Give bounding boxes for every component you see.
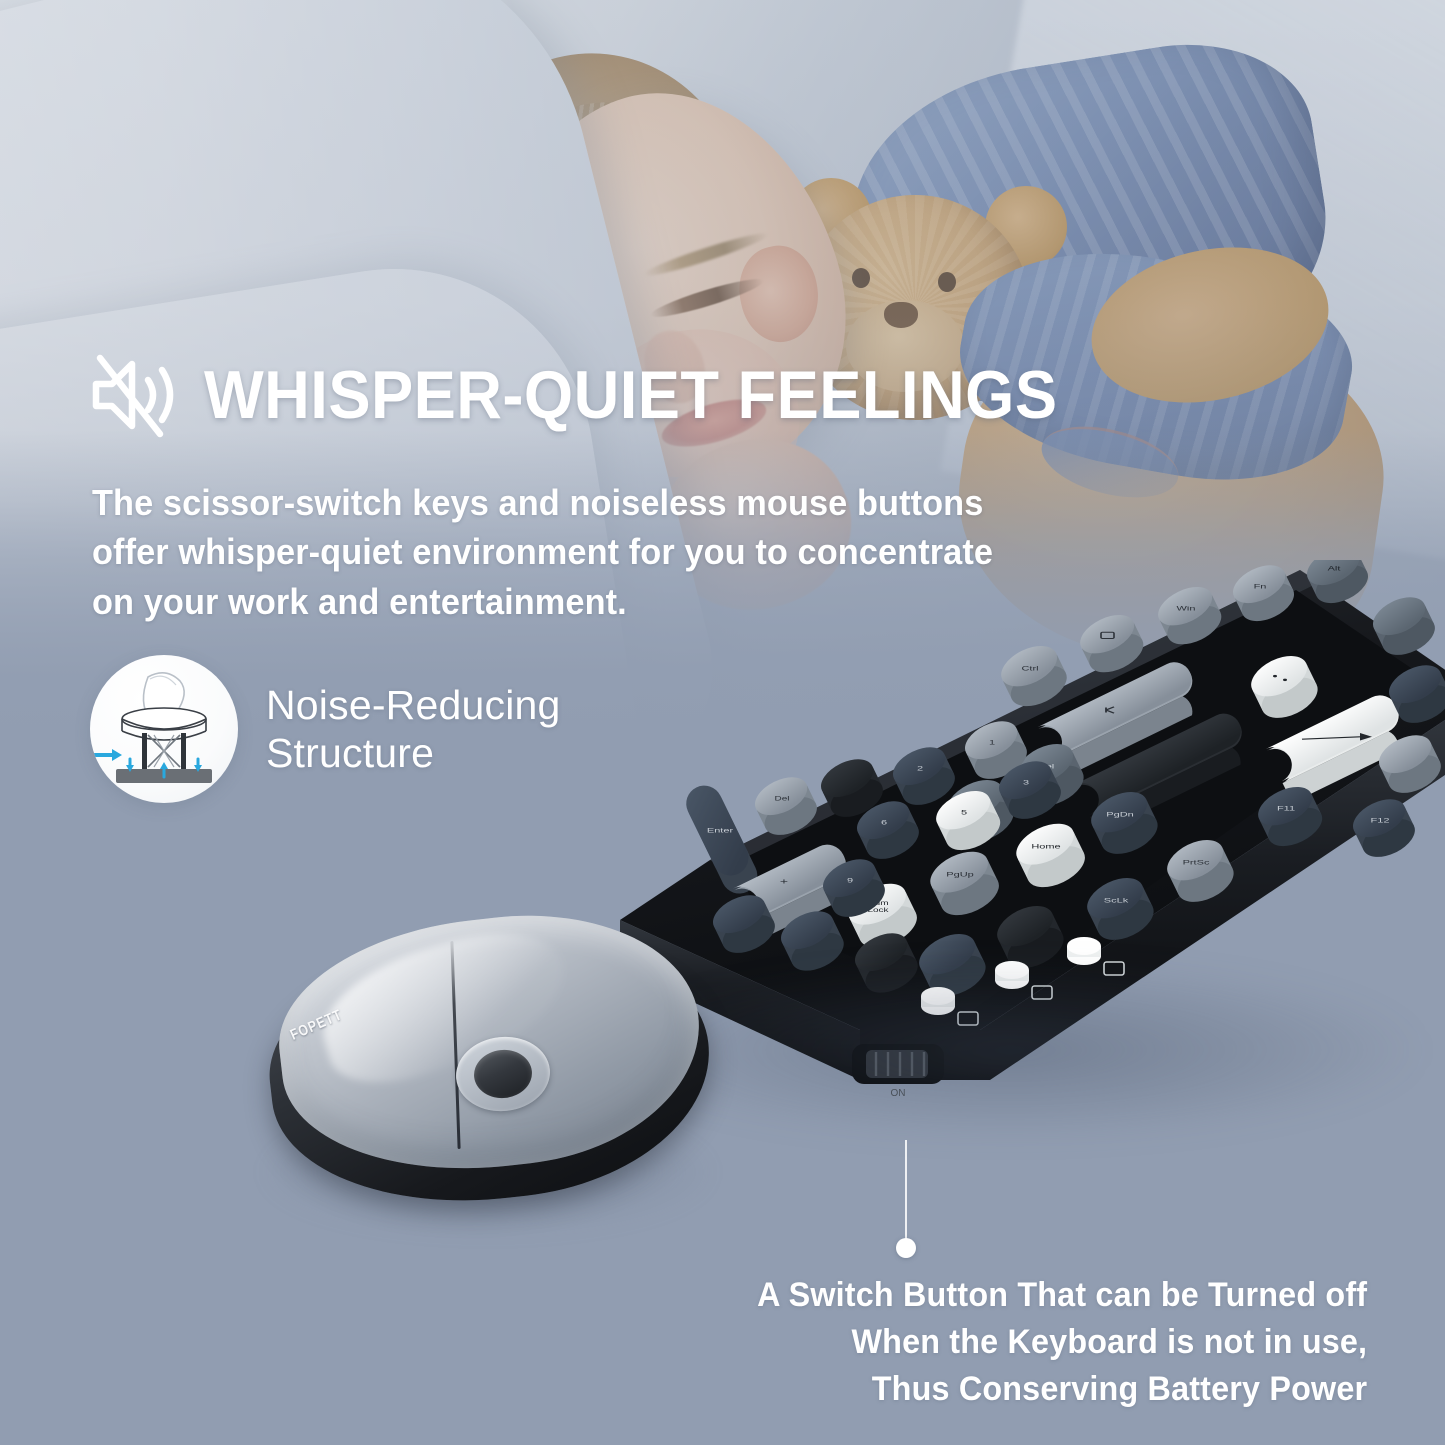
svg-text:2: 2 (917, 765, 923, 772)
callout-line-3: Thus Conserving Battery Power (757, 1366, 1367, 1413)
feature-badge-label: Noise-Reducing Structure (266, 681, 561, 778)
svg-text:9: 9 (847, 877, 853, 884)
muted-speaker-icon (86, 352, 182, 438)
product-mouse: FOPETT (258, 905, 728, 1235)
page-title: WHISPER-QUIET FEELINGS (204, 361, 1057, 429)
noise-reducing-structure-badge (90, 655, 238, 803)
callout-line-1: A Switch Button That can be Turned off (757, 1272, 1367, 1319)
svg-text:Home: Home (1031, 843, 1060, 850)
svg-text:PgDn: PgDn (1106, 811, 1133, 818)
svg-text:ScLk: ScLk (1104, 897, 1129, 904)
svg-text:Alt: Alt (1328, 565, 1341, 572)
product-feature-banner: WHISPER-QUIET FEELINGS The scissor-switc… (0, 0, 1445, 1445)
callout-caption: A Switch Button That can be Turned off W… (757, 1272, 1367, 1413)
svg-text:PrtSc: PrtSc (1183, 859, 1210, 866)
svg-text:+: + (780, 876, 788, 886)
svg-text:Ctrl: Ctrl (1021, 665, 1038, 672)
svg-text:3: 3 (1023, 779, 1029, 786)
feature-label-line-1: Noise-Reducing (266, 681, 561, 729)
svg-text:5: 5 (961, 809, 967, 816)
feature-label-line-2: Structure (266, 729, 561, 777)
headline-row: WHISPER-QUIET FEELINGS (86, 352, 1122, 438)
svg-text:6: 6 (881, 819, 887, 826)
svg-text:Win: Win (1177, 605, 1196, 612)
body-copy-line-1: The scissor-switch keys and noiseless mo… (92, 478, 1060, 527)
scissor-switch-diagram-icon (90, 655, 238, 803)
callout-line-2: When the Keyboard is not in use, (757, 1319, 1367, 1366)
svg-text:Fn: Fn (1254, 583, 1267, 590)
callout-dot (896, 1238, 916, 1258)
svg-text:1: 1 (989, 739, 995, 746)
svg-text:PgUp: PgUp (946, 871, 973, 878)
svg-text:F12: F12 (1371, 817, 1390, 824)
callout-leader-line (905, 1140, 907, 1246)
feature-badge: Noise-Reducing Structure (90, 655, 561, 803)
svg-text:Del: Del (775, 795, 790, 802)
svg-text:F11: F11 (1277, 805, 1295, 812)
svg-text:Enter: Enter (707, 826, 733, 833)
